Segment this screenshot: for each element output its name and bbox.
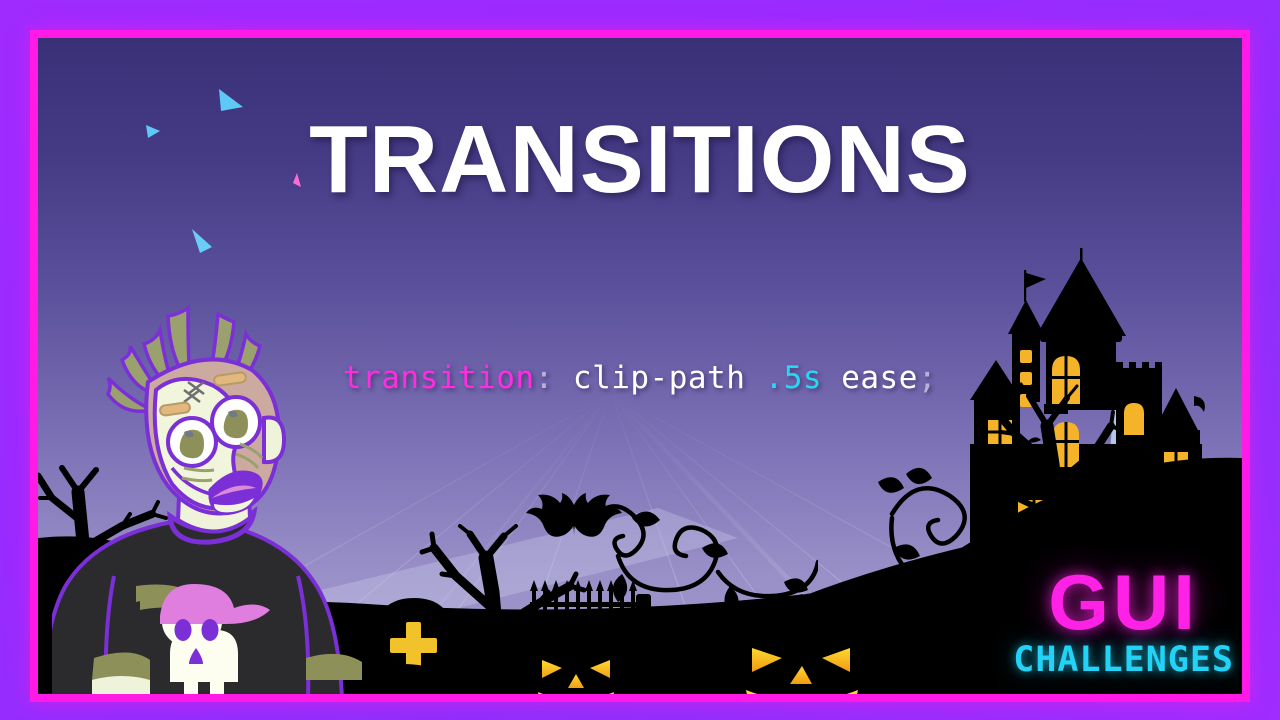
- halloween-scene: TRANSITIONS transition: clip-path .5s ea…: [38, 38, 1242, 694]
- brand-logo-gui: GUI: [1013, 563, 1234, 641]
- bat-icon: [526, 483, 622, 545]
- code-semicolon: ;: [918, 360, 937, 396]
- brand-logo: GUI CHALLENGES: [1013, 563, 1234, 678]
- thumbnail-canvas: TRANSITIONS transition: clip-path .5s ea…: [0, 0, 1280, 720]
- code-easing: ease: [841, 360, 918, 396]
- code-value: clip-path: [573, 360, 745, 396]
- zombie-presenter-avatar: [52, 286, 372, 694]
- magenta-frame-border: TRANSITIONS transition: clip-path .5s ea…: [30, 30, 1250, 702]
- jack-o-lantern: [518, 620, 634, 694]
- page-title: TRANSITIONS: [38, 112, 1242, 208]
- brand-logo-challenges: CHALLENGES: [1013, 643, 1234, 678]
- jack-o-lantern: [722, 594, 882, 694]
- code-snippet: transition: clip-path .5s ease;: [38, 360, 1242, 396]
- code-colon: :: [535, 360, 554, 396]
- code-property: transition: [343, 360, 535, 396]
- code-duration: .5s: [765, 360, 823, 396]
